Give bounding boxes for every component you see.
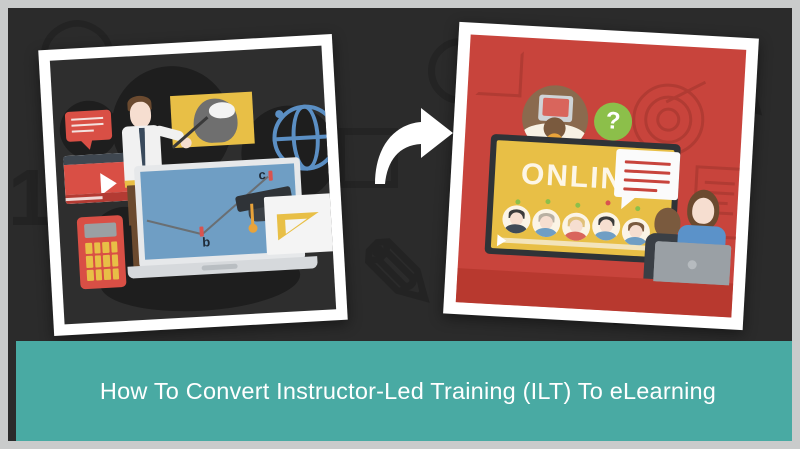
banner-image: ◯ ✎ ✎ M ✎ 1 — [0, 0, 800, 449]
learner-avatar — [502, 205, 532, 235]
bg-pattern-glyph: ✎ — [358, 228, 438, 324]
status-dot — [605, 200, 610, 205]
document-line — [705, 181, 735, 186]
learner-avatar — [532, 208, 562, 238]
right-photo-frame: ? ONLINE — [443, 22, 759, 330]
instructor-head — [129, 101, 151, 128]
laptop-illustration: b c — [50, 46, 322, 61]
speech-bubble-icon — [65, 109, 113, 142]
avatar-body — [534, 227, 557, 237]
status-dot — [515, 199, 520, 204]
status-dot — [635, 206, 640, 211]
calculator-keys — [85, 241, 119, 281]
question-badge: ? — [593, 102, 633, 142]
avatar-body — [564, 231, 587, 241]
avatar-body — [505, 224, 528, 234]
chart-label-b: b — [202, 234, 211, 249]
learner-avatar — [561, 212, 591, 242]
title-band: How To Convert Instructor-Led Training (… — [16, 341, 792, 441]
calculator-icon — [77, 215, 127, 289]
growth-arrow-decor — [475, 49, 523, 97]
right-photo-content: ? ONLINE — [456, 35, 747, 318]
calculator-display — [84, 222, 117, 238]
status-dot — [575, 203, 580, 208]
laptop-icon — [653, 241, 731, 285]
chart-line-segment — [147, 220, 202, 235]
play-icon[interactable] — [497, 234, 507, 246]
curved-right-arrow-icon — [369, 106, 457, 188]
learner-avatar — [591, 212, 621, 242]
chart-point-c — [268, 171, 273, 181]
ruler-card — [264, 193, 336, 255]
left-photo-frame: b c — [38, 34, 348, 336]
chart-label-c: c — [258, 167, 266, 182]
page-title: How To Convert Instructor-Led Training (… — [100, 378, 716, 405]
avatar-body — [594, 231, 617, 241]
dark-background: ◯ ✎ ✎ M ✎ 1 — [8, 8, 792, 441]
status-dot — [545, 199, 550, 204]
chat-bubble-icon — [614, 149, 681, 200]
ruler-inner-cut — [285, 219, 308, 234]
instructor-figure — [50, 46, 322, 61]
left-photo-content: b c — [50, 46, 336, 325]
